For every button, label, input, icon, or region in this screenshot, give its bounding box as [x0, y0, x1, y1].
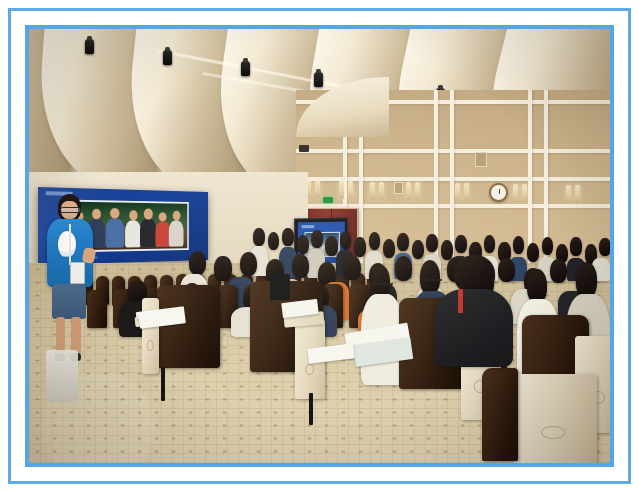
wall-clock	[489, 183, 508, 202]
student-reading-papers	[424, 255, 523, 368]
wall-sconce	[406, 182, 411, 200]
presenter-leg	[56, 317, 65, 354]
ceiling-spotlight	[163, 50, 172, 65]
ceiling-spotlight	[314, 72, 323, 87]
presenter-shorts	[52, 284, 85, 320]
wall-sconce	[348, 181, 353, 199]
presenter-arm	[81, 247, 95, 264]
floor-bag	[46, 350, 78, 402]
foreground-seat-bottom-right	[482, 368, 610, 463]
standing-staff-member	[44, 194, 96, 363]
wall-sconce	[513, 184, 518, 202]
presenter-leg	[71, 317, 80, 354]
wall-sconce	[339, 181, 344, 199]
exit-sign	[323, 197, 333, 203]
wall-sconce	[575, 185, 580, 203]
name-badge	[70, 262, 85, 284]
lanyard	[458, 289, 463, 314]
wall-sconce	[379, 182, 384, 200]
wall-sconce	[315, 180, 320, 198]
wall-sconce	[522, 184, 527, 202]
wall-speaker	[299, 145, 309, 152]
frame-inner-border: Large university auditorium filled with …	[25, 25, 614, 467]
frame-outer-border: Large university auditorium filled with …	[8, 8, 631, 484]
wall-sconce	[455, 183, 460, 201]
ceiling-spotlight	[85, 39, 94, 54]
lanyard	[69, 224, 71, 265]
camera-tripod	[270, 274, 290, 300]
wall-switch-plate	[394, 182, 403, 194]
wall-sconce	[415, 182, 420, 200]
wall-sconce	[464, 183, 469, 201]
wall-access-plate	[475, 152, 487, 167]
wall-sconce	[370, 182, 375, 200]
lecture-hall-photograph: Large university auditorium filled with …	[29, 29, 610, 463]
glasses-icon	[60, 207, 81, 213]
wall-sconce	[566, 185, 571, 203]
foreground-seat-left	[145, 285, 232, 415]
photo-frame: Large university auditorium filled with …	[0, 0, 639, 492]
ceiling-spotlight	[241, 61, 250, 76]
